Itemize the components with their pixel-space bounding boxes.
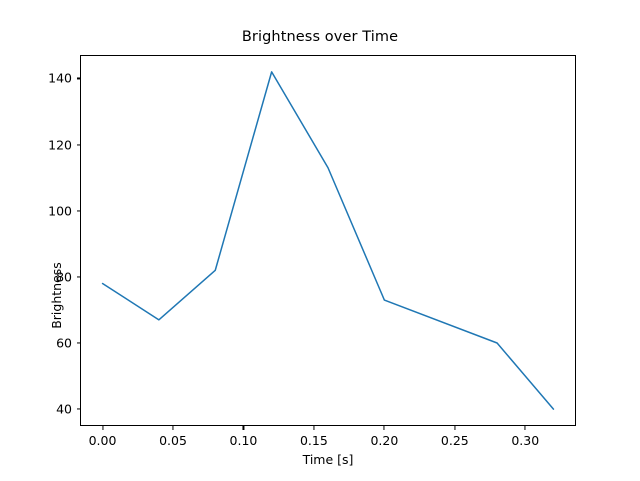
plot-area — [80, 55, 576, 426]
y-tick-label: 140 — [48, 71, 72, 86]
x-tick-mark — [243, 426, 244, 430]
x-tick-label: 0.25 — [441, 433, 469, 448]
x-tick-mark — [172, 426, 173, 430]
x-tick-label: 0.00 — [89, 433, 117, 448]
x-tick-label: 0.20 — [370, 433, 398, 448]
matplotlib-figure: Brightness over Time 406080100120140 0.0… — [0, 0, 640, 480]
x-axis-label: Time [s] — [80, 452, 576, 467]
x-tick-label: 0.10 — [230, 433, 258, 448]
y-axis-label: Brightness — [48, 110, 66, 481]
brightness-line — [103, 72, 554, 409]
y-axis-label-holder: Brightness — [26, 55, 44, 426]
x-tick-mark — [384, 426, 385, 430]
x-tick-mark — [102, 426, 103, 430]
x-tick-mark — [313, 426, 314, 430]
x-tick-mark — [525, 426, 526, 430]
x-tick-label: 0.05 — [159, 433, 187, 448]
x-tick-label: 0.30 — [511, 433, 539, 448]
line-series-svg — [80, 55, 576, 426]
x-tick-mark — [454, 426, 455, 430]
x-tick-label: 0.15 — [300, 433, 328, 448]
chart-title: Brightness over Time — [0, 29, 640, 45]
